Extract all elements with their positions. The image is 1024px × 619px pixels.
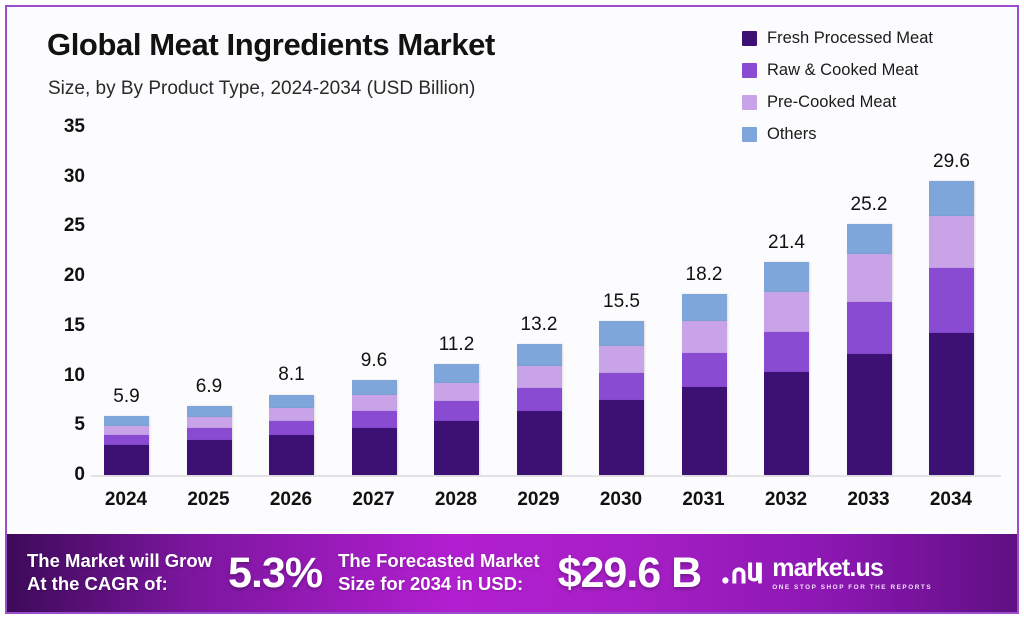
- bar-segment[interactable]: [187, 417, 232, 428]
- bar-total-label: 21.4: [768, 232, 805, 254]
- y-axis-tick: 20: [35, 265, 85, 287]
- bar-segment[interactable]: [269, 395, 314, 409]
- y-axis-tick: 35: [35, 116, 85, 138]
- x-axis: 2024202520262027202820292030203120322033…: [91, 489, 1001, 519]
- bar-segment[interactable]: [104, 445, 149, 475]
- bar-segment[interactable]: [434, 421, 479, 475]
- bar-segment[interactable]: [434, 383, 479, 402]
- bar-group[interactable]: 25.2: [847, 224, 892, 475]
- bar-group[interactable]: 29.6: [929, 181, 974, 475]
- bar-total-label: 9.6: [361, 350, 387, 372]
- x-axis-tick: 2032: [755, 489, 817, 511]
- bar-segment[interactable]: [187, 406, 232, 417]
- bar-segment[interactable]: [434, 401, 479, 421]
- bar-segment[interactable]: [599, 373, 644, 401]
- bar-segment[interactable]: [682, 353, 727, 387]
- bar-total-label: 5.9: [113, 386, 139, 408]
- bar-segment[interactable]: [104, 426, 149, 435]
- bar-series-container: 5.96.98.19.611.213.215.518.221.425.229.6: [91, 127, 1001, 475]
- bar-group[interactable]: 5.9: [104, 416, 149, 475]
- cagr-label-line2: At the CAGR of:: [27, 573, 212, 596]
- bar-segment[interactable]: [764, 292, 809, 332]
- x-axis-tick: 2033: [838, 489, 900, 511]
- bar-segment[interactable]: [847, 354, 892, 475]
- bar-segment[interactable]: [929, 333, 974, 475]
- x-axis-tick: 2034: [920, 489, 982, 511]
- bar-segment[interactable]: [599, 400, 644, 475]
- bar-segment[interactable]: [434, 364, 479, 383]
- logo-tagline: ONE STOP SHOP FOR THE REPORTS: [772, 584, 932, 591]
- bottom-banner: The Market will Grow At the CAGR of: 5.3…: [7, 534, 1019, 612]
- bar-segment[interactable]: [517, 411, 562, 475]
- bar-segment[interactable]: [764, 262, 809, 292]
- bar-group[interactable]: 8.1: [269, 395, 314, 476]
- y-axis-tick: 30: [35, 166, 85, 188]
- bar-segment[interactable]: [847, 254, 892, 302]
- bar-segment[interactable]: [187, 440, 232, 475]
- bar-segment[interactable]: [847, 302, 892, 354]
- bar-group[interactable]: 21.4: [764, 262, 809, 475]
- y-axis: 05101520253035: [35, 111, 85, 479]
- plot-area: 05101520253035 5.96.98.19.611.213.215.51…: [7, 7, 1019, 614]
- bar-segment[interactable]: [517, 366, 562, 388]
- cagr-value: 5.3%: [228, 549, 322, 598]
- bar-total-label: 6.9: [196, 376, 222, 398]
- bar-group[interactable]: 11.2: [434, 364, 479, 475]
- bar-group[interactable]: 13.2: [517, 344, 562, 475]
- axis-baseline: [91, 475, 1001, 477]
- bar-segment[interactable]: [682, 321, 727, 353]
- cagr-block: The Market will Grow At the CAGR of:: [27, 550, 212, 595]
- bar-segment[interactable]: [764, 372, 809, 475]
- bar-segment[interactable]: [269, 435, 314, 475]
- bar-group[interactable]: 15.5: [599, 321, 644, 475]
- y-axis-tick: 15: [35, 315, 85, 337]
- cagr-label: The Market will Grow At the CAGR of:: [27, 550, 212, 595]
- bar-segment[interactable]: [104, 435, 149, 445]
- bar-segment[interactable]: [517, 388, 562, 412]
- bar-segment[interactable]: [269, 408, 314, 421]
- bar-segment[interactable]: [764, 332, 809, 372]
- bar-segment[interactable]: [682, 294, 727, 321]
- y-axis-tick: 5: [35, 414, 85, 436]
- bar-segment[interactable]: [847, 224, 892, 254]
- infographic-root: Global Meat Ingredients Market Size, by …: [0, 0, 1024, 619]
- x-axis-tick: 2026: [260, 489, 322, 511]
- x-axis-tick: 2030: [590, 489, 652, 511]
- bar-segment[interactable]: [929, 268, 974, 333]
- bar-segment[interactable]: [929, 216, 974, 269]
- bar-segment[interactable]: [599, 321, 644, 346]
- bar-group[interactable]: 9.6: [352, 380, 397, 475]
- bar-segment[interactable]: [104, 416, 149, 426]
- bar-segment[interactable]: [682, 387, 727, 475]
- forecast-block: The Forecasted Market Size for 2034 in U…: [338, 550, 540, 595]
- x-axis-tick: 2027: [343, 489, 405, 511]
- bar-group[interactable]: 18.2: [682, 294, 727, 475]
- forecast-value: $29.6 B: [558, 549, 702, 598]
- market-us-logo-text: market.us ONE STOP SHOP FOR THE REPORTS: [772, 556, 932, 591]
- bar-segment[interactable]: [517, 344, 562, 366]
- market-us-logo[interactable]: market.us ONE STOP SHOP FOR THE REPORTS: [721, 556, 932, 591]
- bar-group[interactable]: 6.9: [187, 406, 232, 475]
- x-axis-tick: 2031: [673, 489, 735, 511]
- x-axis-tick: 2028: [425, 489, 487, 511]
- bar-segment[interactable]: [352, 411, 397, 428]
- cagr-label-line1: The Market will Grow: [27, 550, 212, 573]
- market-us-logo-icon: [721, 559, 763, 587]
- chart-frame: Global Meat Ingredients Market Size, by …: [5, 5, 1019, 614]
- x-axis-tick: 2025: [178, 489, 240, 511]
- bar-segment[interactable]: [352, 428, 397, 475]
- bar-total-label: 11.2: [439, 334, 475, 356]
- bar-total-label: 25.2: [851, 194, 888, 216]
- bar-total-label: 8.1: [278, 364, 304, 386]
- bar-segment[interactable]: [599, 346, 644, 373]
- bar-total-label: 29.6: [933, 151, 970, 173]
- logo-name: market.us: [772, 556, 932, 581]
- x-axis-tick: 2024: [95, 489, 157, 511]
- y-axis-tick: 0: [35, 464, 85, 486]
- bar-segment[interactable]: [929, 181, 974, 216]
- bar-segment[interactable]: [352, 395, 397, 411]
- bar-segment[interactable]: [269, 421, 314, 435]
- bar-total-label: 13.2: [521, 314, 558, 336]
- x-axis-tick: 2029: [508, 489, 570, 511]
- bar-total-label: 15.5: [603, 291, 640, 313]
- forecast-label-line1: The Forecasted Market: [338, 550, 540, 573]
- y-axis-tick: 25: [35, 215, 85, 237]
- bar-total-label: 18.2: [686, 264, 723, 286]
- forecast-label-line2: Size for 2034 in USD:: [338, 573, 540, 596]
- forecast-label: The Forecasted Market Size for 2034 in U…: [338, 550, 540, 595]
- bar-segment[interactable]: [187, 428, 232, 440]
- bar-segment[interactable]: [352, 380, 397, 396]
- y-axis-tick: 10: [35, 365, 85, 387]
